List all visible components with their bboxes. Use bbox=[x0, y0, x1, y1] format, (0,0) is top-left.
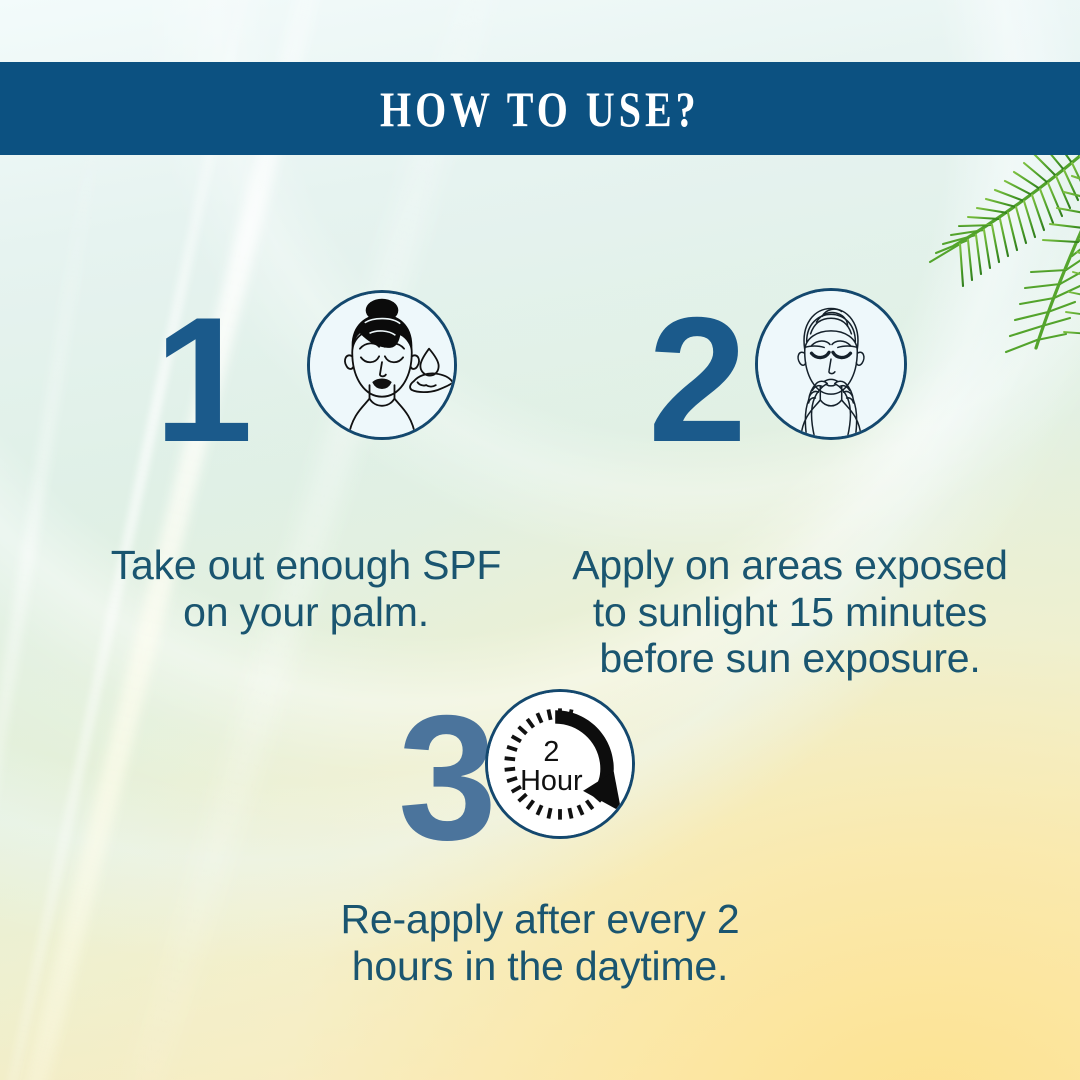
step-item: 1 bbox=[96, 290, 516, 635]
page-title: HOW TO USE? bbox=[380, 84, 700, 134]
step-caption: Re-apply after every 2 hours in the dayt… bbox=[310, 896, 770, 989]
step-caption: Apply on areas exposed to sunlight 15 mi… bbox=[560, 542, 1020, 682]
poster-canvas: HOW TO USE? bbox=[0, 0, 1080, 1080]
step-caption: Take out enough SPF on your palm. bbox=[96, 542, 516, 635]
step-visual: 1 bbox=[96, 290, 516, 495]
two-hour-timer-clock-icon: 2 Hour bbox=[485, 689, 635, 839]
step-number: 1 bbox=[154, 298, 247, 462]
header-banner: HOW TO USE? bbox=[0, 62, 1080, 155]
woman-applying-cream-to-face-icon bbox=[755, 288, 907, 440]
clock-unit-text: Hour bbox=[520, 765, 583, 797]
step-number: 3 bbox=[398, 696, 491, 860]
sun-ray-streak bbox=[0, 119, 104, 1080]
step-item: 3 bbox=[310, 690, 770, 989]
woman-face-with-droplet-in-palm-icon bbox=[307, 290, 457, 440]
step-number: 2 bbox=[648, 298, 741, 462]
step-visual: 2 bbox=[560, 290, 1020, 495]
step-visual: 3 bbox=[310, 690, 770, 848]
step-item: 2 bbox=[560, 290, 1020, 682]
clock-value-text: 2 bbox=[543, 736, 559, 768]
